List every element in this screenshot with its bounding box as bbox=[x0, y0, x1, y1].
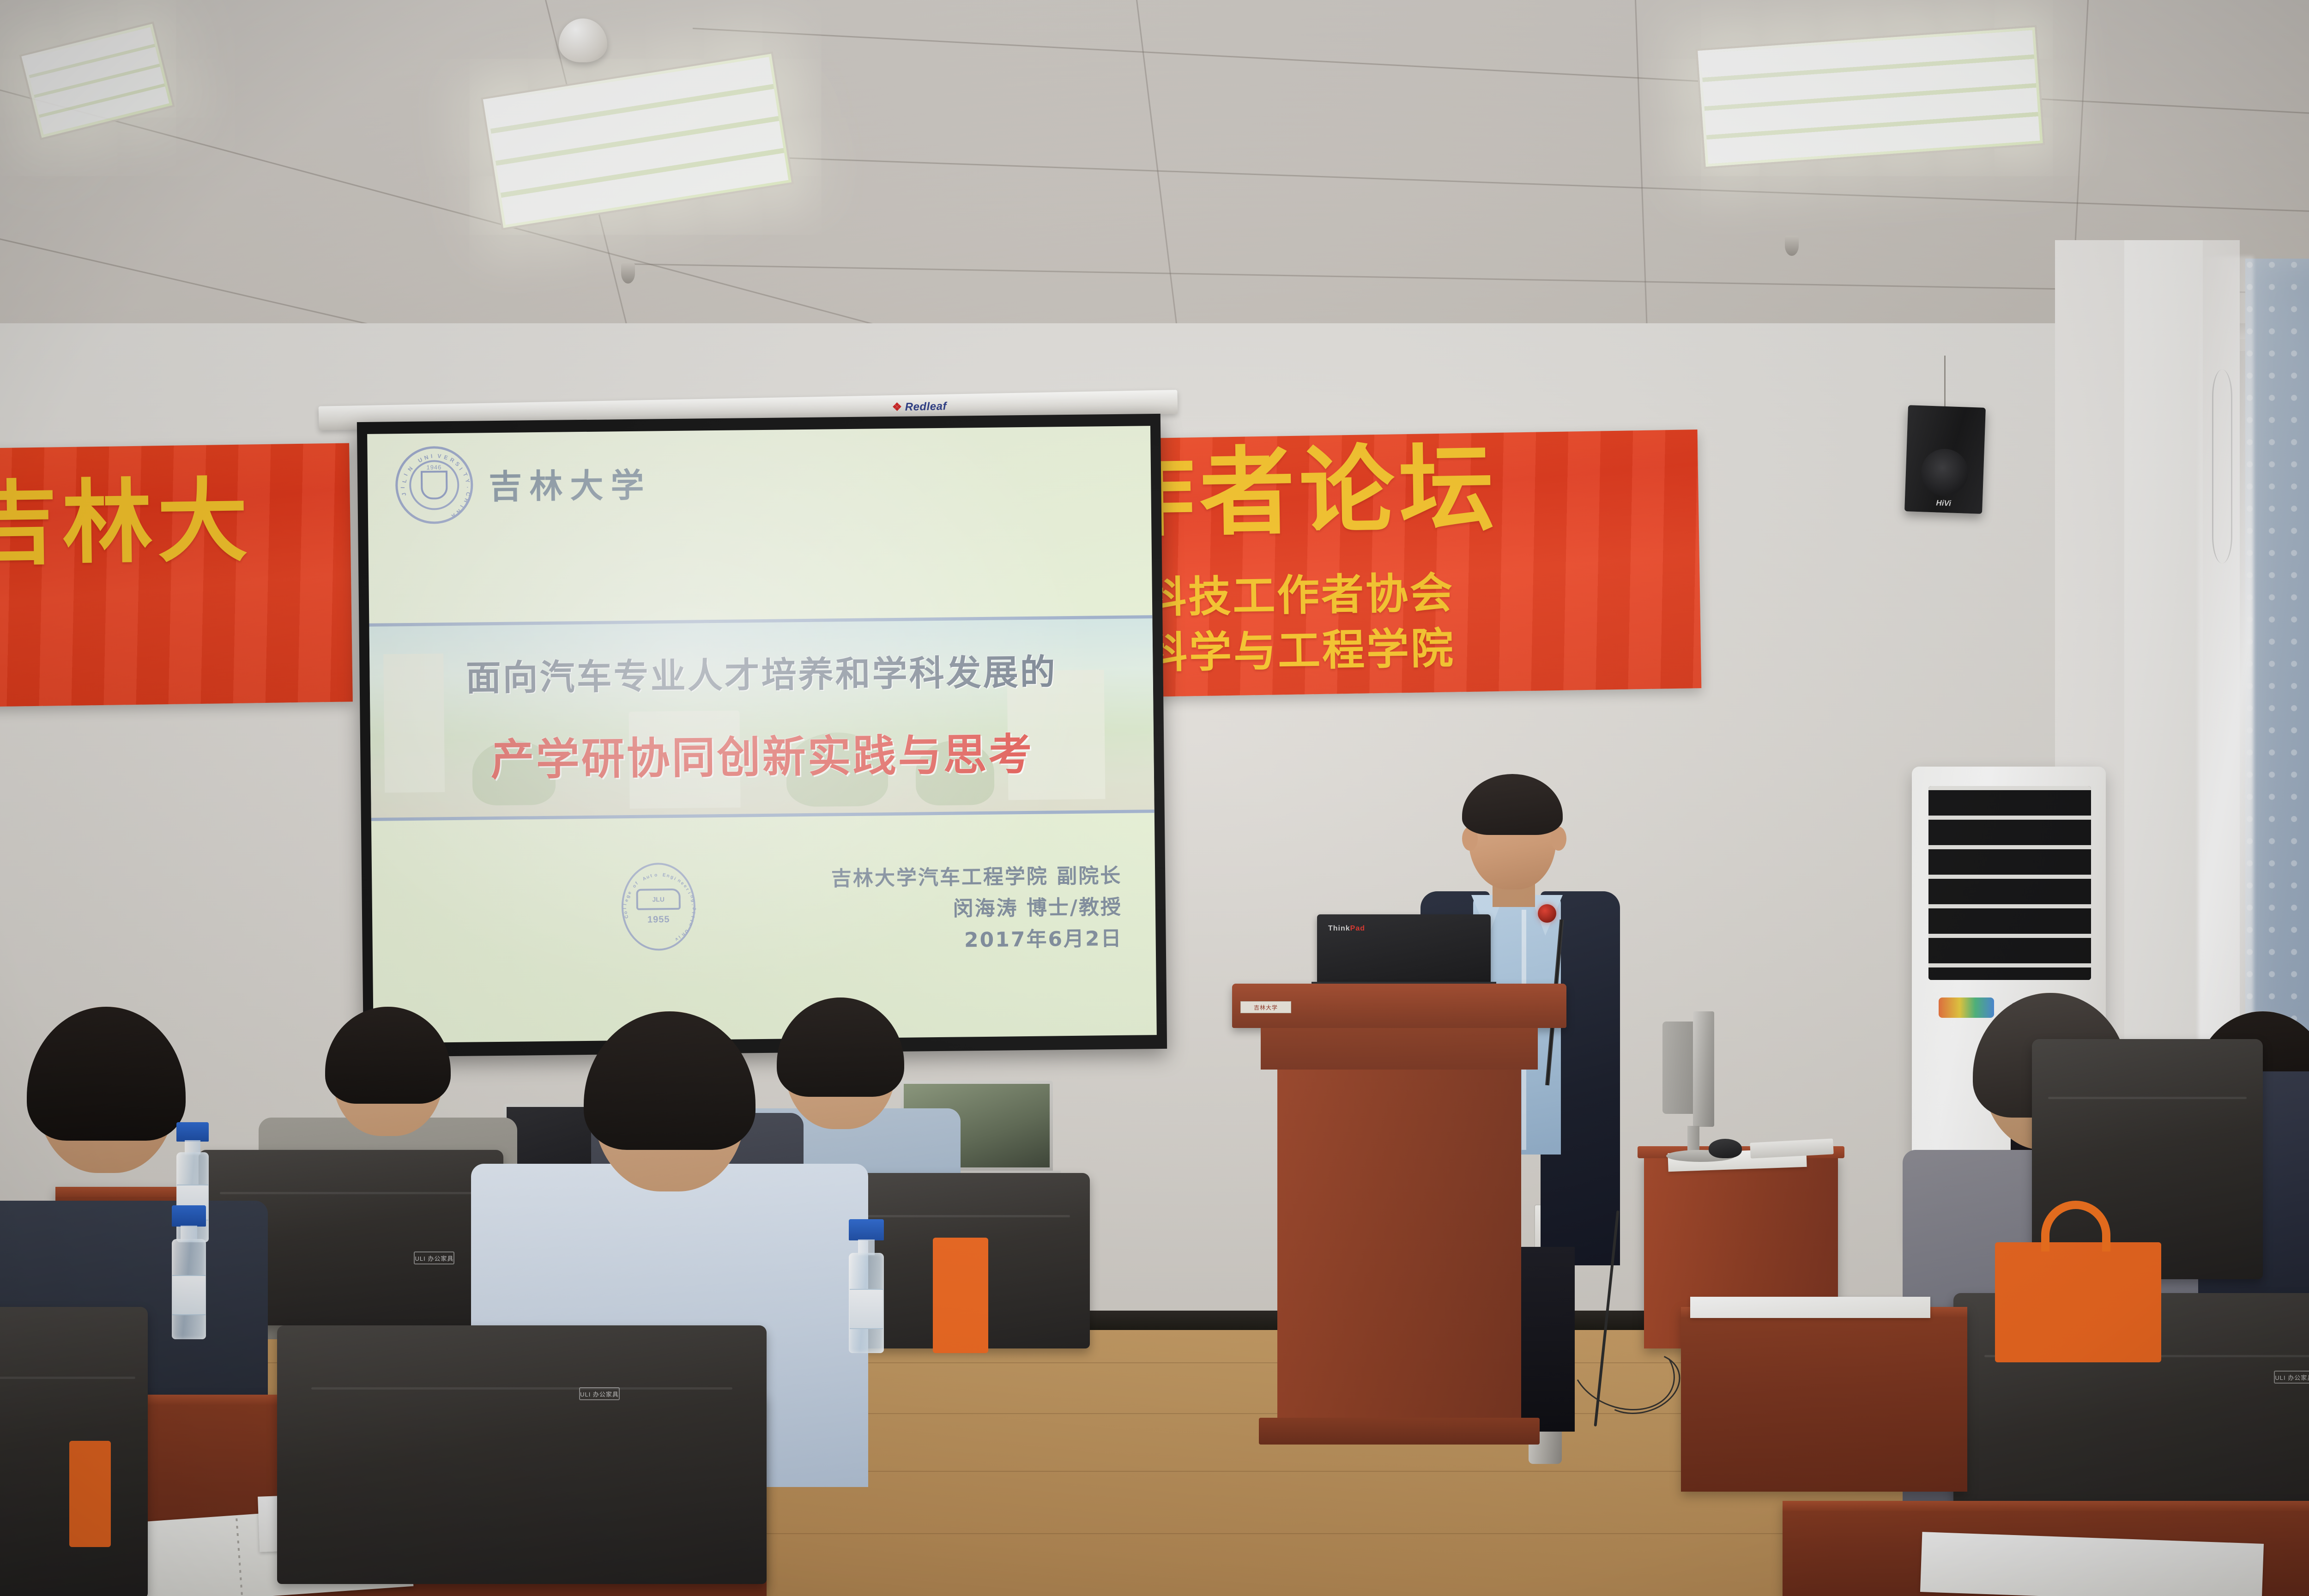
projector-screen: 1946 JILIN UNIVERSITY·CHINA 吉林大学 面向汽车专业人… bbox=[357, 414, 1167, 1057]
ceiling-light-panel bbox=[1696, 25, 2045, 169]
jilin-university-wordmark: 吉林大学 bbox=[489, 458, 652, 508]
banner-left: 吉林大 bbox=[0, 443, 353, 707]
window-jamb bbox=[2124, 240, 2203, 1076]
microphone-icon bbox=[1538, 904, 1556, 923]
slide-title-line-2: 产学研协同创新实践与思考 bbox=[370, 718, 1154, 789]
audience-hair bbox=[325, 1007, 451, 1104]
window-blind bbox=[2245, 259, 2309, 1044]
banner-left-text: 吉林大 bbox=[0, 476, 253, 570]
presenter-hair bbox=[1462, 774, 1563, 835]
audience-hair bbox=[584, 1011, 756, 1150]
credit-affiliation: 吉林大学汽车工程学院 副院长 bbox=[831, 860, 1122, 895]
bottle-cap bbox=[176, 1122, 209, 1142]
suspended-ceiling bbox=[0, 0, 2309, 351]
smoke-detector-icon bbox=[559, 18, 607, 62]
college-auto-engineering-seal-icon: JLU 1955 College of Auto Engineering.Jil… bbox=[621, 863, 696, 951]
computer-mouse[interactable] bbox=[1709, 1139, 1742, 1158]
orange-tote-bag bbox=[933, 1238, 988, 1353]
cae-abbrev: JLU bbox=[652, 895, 665, 903]
water-bottle[interactable] bbox=[172, 1205, 206, 1339]
loose-papers bbox=[1690, 1297, 1930, 1318]
cae-year: 1955 bbox=[647, 914, 670, 925]
curtain-tieback bbox=[2212, 369, 2232, 563]
credit-name: 闵海涛 博士/教授 bbox=[831, 892, 1122, 926]
presentation-slide: 1946 JILIN UNIVERSITY·CHINA 吉林大学 面向汽车专业人… bbox=[367, 426, 1157, 1043]
chair-brand-badge: ULI 办公家具 bbox=[2274, 1371, 2309, 1384]
bottle-cap bbox=[849, 1219, 884, 1240]
ac-air-grille bbox=[1928, 786, 2091, 980]
ceiling-light-panel bbox=[481, 52, 793, 230]
credit-date: 2017年6月2日 bbox=[832, 923, 1123, 958]
audience-chair[interactable]: ULI 办公家具 bbox=[277, 1325, 767, 1584]
conference-room-photo: 吉林大 作者论坛 年科技工作者协会 械科学与工程学院 ❖Redleaf 1946… bbox=[0, 0, 2309, 1596]
audience-desk-right bbox=[1681, 1307, 1967, 1492]
chair-brand-badge: ULI 办公家具 bbox=[579, 1387, 620, 1400]
car-outline-icon: JLU bbox=[636, 888, 680, 910]
speaker-wire bbox=[1944, 356, 1946, 410]
seal-year: 1946 bbox=[426, 464, 441, 471]
sprinkler-icon bbox=[621, 263, 635, 284]
audience-hair bbox=[27, 1007, 186, 1141]
laptop-brand-label: ThinkPad bbox=[1328, 925, 1365, 933]
ceiling-light-panel bbox=[19, 22, 175, 140]
speaker-brand-label: HiVi bbox=[1936, 498, 1951, 508]
screen-brand-label: ❖Redleaf bbox=[892, 399, 947, 414]
seal-shield-icon bbox=[421, 471, 448, 500]
banner-right: 作者论坛 年科技工作者协会 械科学与工程学院 bbox=[1116, 429, 1702, 697]
wall-speaker: HiVi bbox=[1904, 405, 1986, 514]
lectern: 吉林大学 bbox=[1238, 984, 1561, 1469]
orange-tote-bag bbox=[69, 1441, 111, 1547]
orange-tote-bag bbox=[1995, 1242, 2161, 1362]
bottle-cap bbox=[172, 1205, 206, 1227]
slide-hero-band: 面向汽车专业人才培养和学科发展的 产学研协同创新实践与思考 bbox=[369, 615, 1154, 821]
slide-title-line-1: 面向汽车专业人才培养和学科发展的 bbox=[369, 642, 1153, 701]
slide-credits: 吉林大学汽车工程学院 副院长 闵海涛 博士/教授 2017年6月2日 bbox=[831, 860, 1123, 958]
sprinkler-icon bbox=[1785, 236, 1799, 256]
speaker-cone-icon bbox=[1920, 448, 1969, 496]
jilin-university-seal-icon: 1946 JILIN UNIVERSITY·CHINA bbox=[395, 446, 473, 525]
redleaf-mark-icon: ❖ bbox=[892, 401, 902, 413]
chair-brand-badge: ULI 办公家具 bbox=[414, 1251, 454, 1264]
water-bottle[interactable] bbox=[849, 1219, 884, 1353]
lectern-badge: 吉林大学 bbox=[1240, 1001, 1291, 1013]
